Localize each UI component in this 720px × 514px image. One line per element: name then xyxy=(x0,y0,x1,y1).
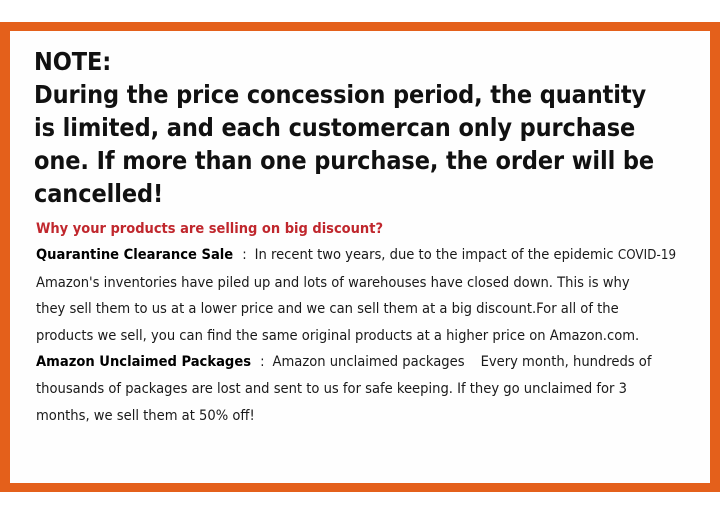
covid-19-label: COVID-19 xyxy=(618,248,676,263)
note-headline: NOTE: During the price concession period… xyxy=(34,45,714,210)
unclaimed-packages-line-2: thousands of packages are lost and sent … xyxy=(36,376,720,403)
unclaimed-packages-separator: : xyxy=(260,353,264,370)
unclaimed-packages-label: Amazon Unclaimed Packages xyxy=(36,353,251,370)
headline-line-5: cancelled! xyxy=(34,177,714,210)
unclaimed-packages-line-1: Amazon Unclaimed Packages:Amazon unclaim… xyxy=(36,349,720,376)
unclaimed-packages-text-2: Every month, hundreds of xyxy=(481,353,652,370)
unclaimed-packages-line-3: months, we sell them at 50% off! xyxy=(36,403,720,430)
note-card: NOTE: During the price concession period… xyxy=(0,22,720,492)
headline-line-3: is limited, and each customercan only pu… xyxy=(34,111,714,144)
unclaimed-packages-text-1: Amazon unclaimed packages xyxy=(273,353,465,370)
clearance-sale-line-3: they sell them to us at a lower price an… xyxy=(36,296,720,323)
discount-question-subheading: Why your products are selling on big dis… xyxy=(36,219,700,239)
clearance-sale-line-4: products we sell, you can find the same … xyxy=(36,323,720,350)
headline-line-2: During the price concession period, the … xyxy=(34,78,714,111)
headline-line-4: one. If more than one purchase, the orde… xyxy=(34,144,714,177)
clearance-sale-text-1: In recent two years, due to the impact o… xyxy=(255,246,618,263)
clearance-sale-line-1: Quarantine Clearance Sale:In recent two … xyxy=(36,242,720,270)
clearance-sale-separator: : xyxy=(242,246,246,263)
clearance-sale-line-2: Amazon's inventories have piled up and l… xyxy=(36,270,720,297)
note-card-inner: NOTE: During the price concession period… xyxy=(10,31,710,483)
clearance-sale-label: Quarantine Clearance Sale xyxy=(36,246,233,263)
note-body: Quarantine Clearance Sale:In recent two … xyxy=(36,242,720,429)
headline-line-1: NOTE: xyxy=(34,45,714,78)
